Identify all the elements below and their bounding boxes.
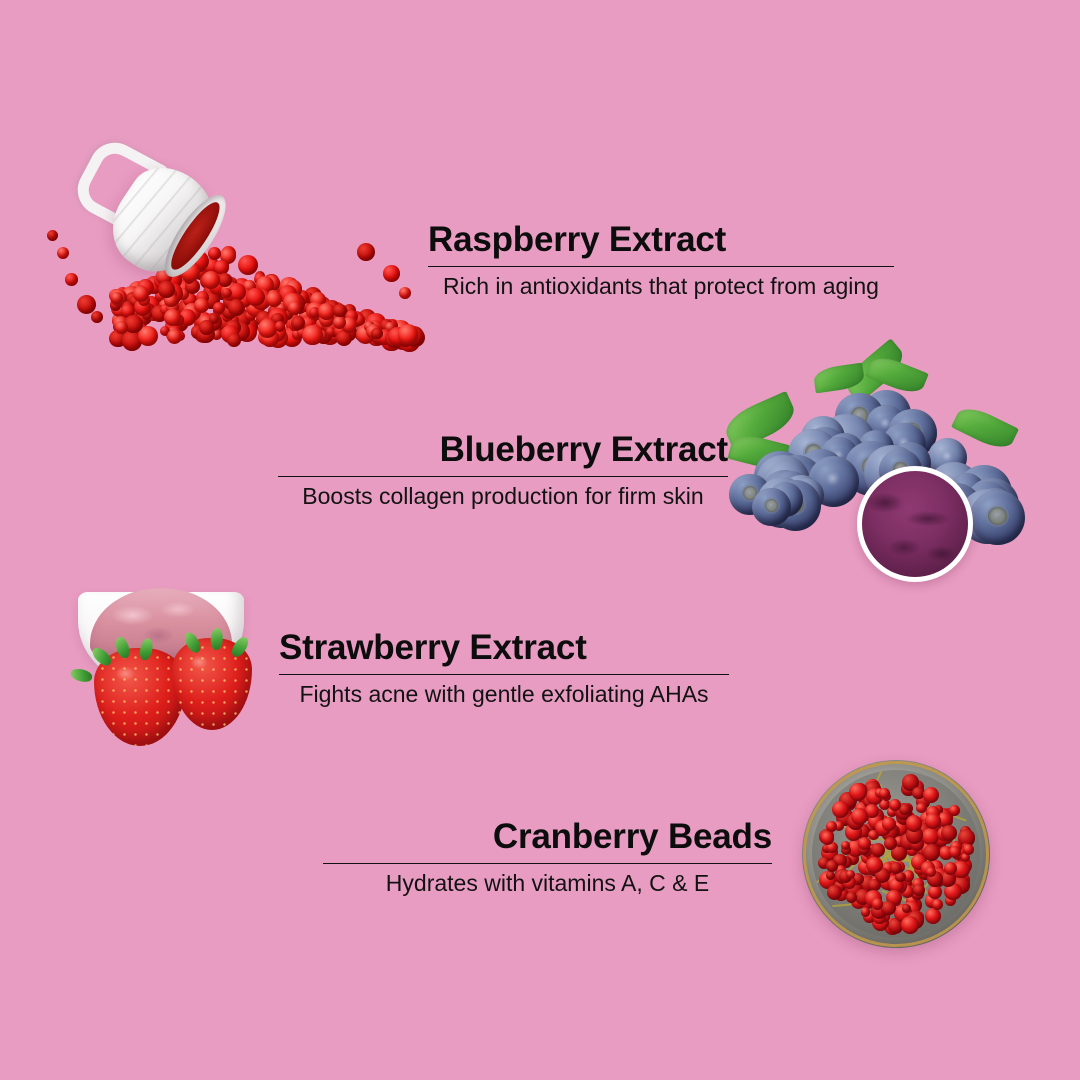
feature-description-cranberry: Hydrates with vitamins A, C & E: [323, 870, 772, 896]
feature-raspberry: Raspberry Extract Rich in antioxidants t…: [428, 222, 894, 300]
infographic-canvas: Raspberry Extract Rich in antioxidants t…: [0, 0, 1080, 1080]
berry: [222, 288, 232, 298]
berry: [333, 316, 346, 329]
cranberry: [932, 899, 943, 910]
feature-description-strawberry: Fights acne with gentle exfoliating AHAs: [279, 681, 729, 707]
berry: [291, 316, 305, 330]
cranberry: [889, 799, 901, 811]
berry: [47, 230, 58, 241]
cranberry: [923, 844, 940, 861]
berry: [228, 299, 245, 316]
cranberry: [906, 815, 923, 832]
cranberry: [890, 862, 902, 874]
berry: [383, 265, 400, 282]
cranberry: [925, 813, 941, 829]
blueberry: [970, 490, 1025, 545]
berry: [167, 329, 182, 344]
cranberry: [871, 843, 885, 857]
berry: [246, 288, 265, 307]
berry: [133, 286, 149, 302]
berry: [57, 247, 69, 259]
feature-description-blueberry: Boosts collagen production for firm skin: [278, 483, 728, 509]
berry: [227, 333, 241, 347]
blueberry-powder-circle: [857, 466, 973, 582]
feature-divider-strawberry: [279, 674, 729, 676]
berry: [208, 247, 221, 260]
berry: [357, 243, 375, 261]
feature-divider-raspberry: [428, 266, 894, 268]
berry: [202, 271, 220, 289]
cranberry: [884, 837, 897, 850]
feature-title-raspberry: Raspberry Extract: [428, 222, 894, 259]
cranberry: [926, 867, 936, 877]
berry: [333, 304, 347, 318]
feature-title-blueberry: Blueberry Extract: [278, 432, 728, 469]
cranberry: [832, 801, 849, 818]
cranberry: [851, 808, 868, 825]
blueberry: [752, 488, 791, 527]
berry: [164, 309, 181, 326]
cranberry: [826, 871, 835, 880]
raspberry-spill-cup-image: [52, 140, 422, 365]
berry: [65, 273, 78, 286]
berry: [238, 255, 258, 275]
cranberry: [923, 787, 939, 803]
cranberry: [872, 898, 884, 910]
feature-divider-blueberry: [278, 476, 728, 478]
cranberry: [821, 831, 835, 845]
berry: [266, 291, 282, 307]
feature-blueberry: Blueberry Extract Boosts collagen produc…: [278, 432, 728, 510]
berry: [194, 298, 209, 313]
feature-title-cranberry: Cranberry Beads: [323, 819, 772, 856]
berry: [199, 320, 214, 335]
berry: [371, 328, 382, 339]
cranberry-dish-inner: [812, 770, 980, 938]
cranberry: [944, 862, 957, 875]
feature-strawberry: Strawberry Extract Fights acne with gent…: [279, 630, 729, 708]
cranberry: [949, 846, 961, 858]
berry: [318, 303, 335, 320]
cranberry: [866, 857, 883, 874]
berry: [288, 301, 301, 314]
feature-title-strawberry: Strawberry Extract: [279, 630, 729, 667]
cranberry: [849, 783, 867, 801]
cranberry: [922, 828, 939, 845]
cranberry: [882, 817, 896, 831]
cranberry: [901, 916, 919, 934]
cranberry: [826, 860, 838, 872]
strawberry-powder-bowl-image: [60, 586, 275, 756]
feature-cranberry: Cranberry Beads Hydrates with vitamins A…: [323, 819, 772, 897]
berry: [213, 302, 225, 314]
cranberry-bowl-image: [802, 760, 990, 948]
strawberry-leaf: [69, 667, 93, 684]
berry: [91, 311, 103, 323]
cranberry: [963, 844, 974, 855]
feature-divider-cranberry: [323, 863, 772, 865]
berry: [275, 321, 285, 331]
berry: [399, 287, 411, 299]
cranberry: [846, 892, 857, 903]
cranberry: [925, 908, 941, 924]
feature-description-raspberry: Rich in antioxidants that protect from a…: [428, 273, 894, 299]
berry: [398, 324, 419, 345]
berry: [302, 325, 322, 345]
cranberry: [949, 805, 960, 816]
